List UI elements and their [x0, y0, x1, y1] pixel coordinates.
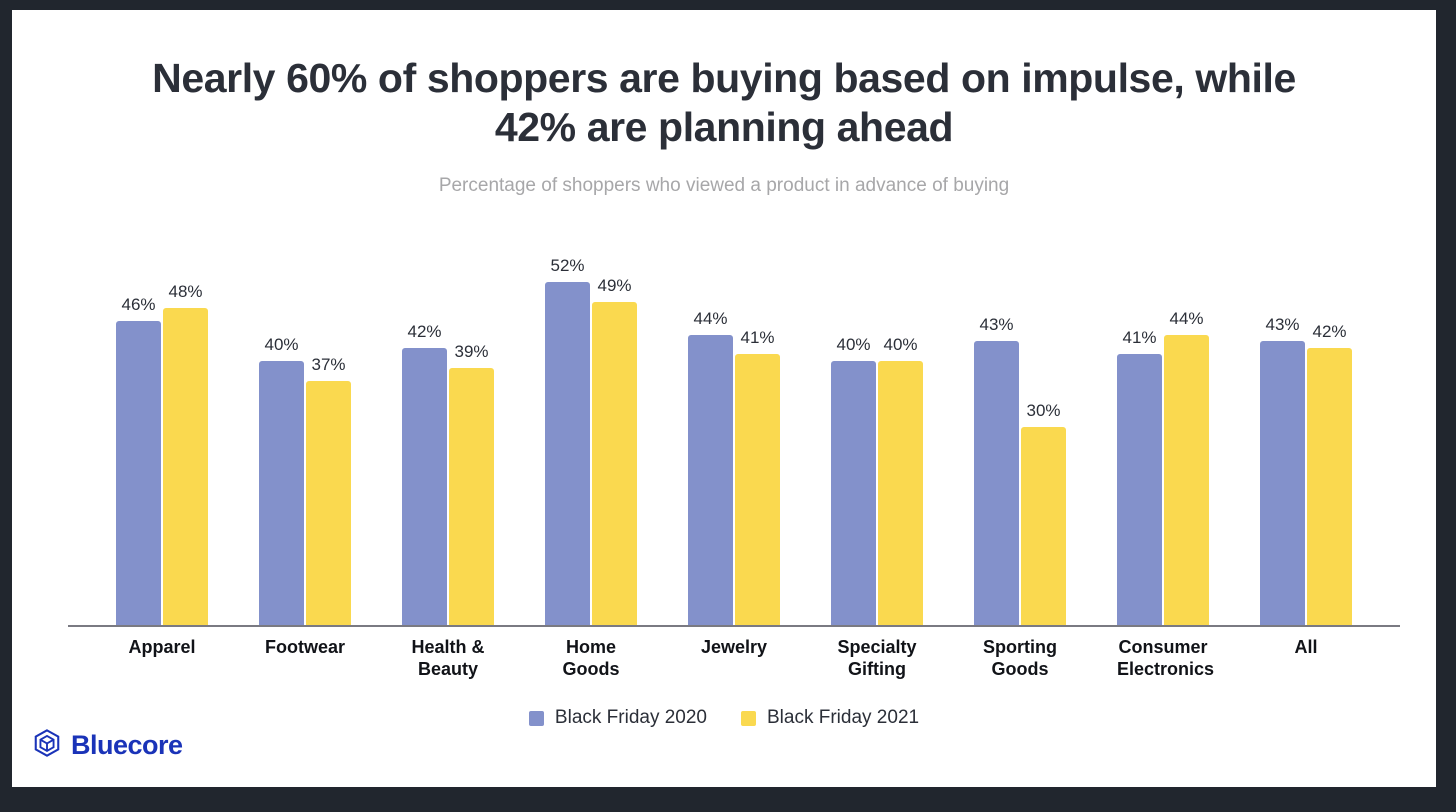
bar-series-2021[interactable] [163, 308, 208, 625]
bar-series-2020[interactable] [688, 335, 733, 625]
page-title: Nearly 60% of shoppers are buying based … [12, 54, 1436, 152]
legend-label: Black Friday 2021 [767, 707, 919, 729]
bar-item[interactable]: 41% [1117, 235, 1162, 625]
bar-value-label: 43% [979, 315, 1013, 335]
bar-group: 40%37% [259, 235, 351, 625]
x-axis-label-line: Jewelry [688, 636, 780, 658]
bar-series-2021[interactable] [449, 368, 494, 625]
bar-item[interactable]: 44% [688, 235, 733, 625]
x-axis-label-line: Goods [974, 658, 1066, 680]
bar-series-2021[interactable] [1307, 348, 1352, 625]
bar-series-2020[interactable] [1260, 341, 1305, 625]
slide-canvas: Nearly 60% of shoppers are buying based … [12, 10, 1436, 787]
x-axis-label-5: SpecialtyGifting [831, 636, 923, 680]
bar-value-label: 44% [693, 309, 727, 329]
x-axis-label-line: Consumer [1117, 636, 1209, 658]
x-axis-label-line: Beauty [402, 658, 494, 680]
bluecore-cube-icon [32, 728, 62, 763]
bar-item[interactable]: 37% [306, 235, 351, 625]
chart-header: Nearly 60% of shoppers are buying based … [12, 10, 1436, 198]
bar-item[interactable]: 40% [259, 235, 304, 625]
bar-series-2021[interactable] [1164, 335, 1209, 625]
bar-value-label: 48% [168, 282, 202, 302]
bar-group: 43%42% [1260, 235, 1352, 625]
x-axis-label-line: Specialty [831, 636, 923, 658]
chart-legend: Black Friday 2020Black Friday 2021 [12, 707, 1436, 729]
bar-value-label: 43% [1265, 315, 1299, 335]
bar-value-label: 44% [1169, 309, 1203, 329]
bar-value-label: 41% [1122, 328, 1156, 348]
bar-value-label: 39% [454, 342, 488, 362]
bar-series-2020[interactable] [545, 282, 590, 625]
bar-item[interactable]: 52% [545, 235, 590, 625]
x-axis-label-1: Footwear [259, 636, 351, 680]
x-axis-label-line: All [1260, 636, 1352, 658]
bar-value-label: 41% [740, 328, 774, 348]
bar-item[interactable]: 41% [735, 235, 780, 625]
bar-item[interactable]: 48% [163, 235, 208, 625]
chart-plot-area: 46%48%40%37%42%39%52%49%44%41%40%40%43%3… [68, 235, 1400, 627]
x-axis-label-line: Apparel [116, 636, 208, 658]
bar-series-2021[interactable] [735, 354, 780, 625]
bar-group: 40%40% [831, 235, 923, 625]
bar-item[interactable]: 49% [592, 235, 637, 625]
bar-group: 42%39% [402, 235, 494, 625]
bar-groups: 46%48%40%37%42%39%52%49%44%41%40%40%43%3… [68, 235, 1400, 627]
x-axis-label-6: SportingGoods [974, 636, 1066, 680]
bar-item[interactable]: 30% [1021, 235, 1066, 625]
bar-item[interactable]: 40% [831, 235, 876, 625]
bar-value-label: 52% [550, 256, 584, 276]
bar-item[interactable]: 43% [1260, 235, 1305, 625]
bar-group: 41%44% [1117, 235, 1209, 625]
bar-item[interactable]: 44% [1164, 235, 1209, 625]
bluecore-logo: Bluecore [32, 728, 183, 763]
bar-value-label: 40% [883, 335, 917, 355]
x-axis-label-4: Jewelry [688, 636, 780, 680]
bar-series-2020[interactable] [974, 341, 1019, 625]
x-axis-label-line: Home Goods [545, 636, 637, 680]
bar-series-2021[interactable] [878, 361, 923, 625]
bar-value-label: 40% [264, 335, 298, 355]
bar-series-2021[interactable] [306, 381, 351, 625]
x-axis-label-line: Gifting [831, 658, 923, 680]
x-axis-label-7: ConsumerElectronics [1117, 636, 1209, 680]
bluecore-wordmark: Bluecore [71, 730, 183, 761]
legend-item-1[interactable]: Black Friday 2021 [741, 707, 919, 729]
legend-item-0[interactable]: Black Friday 2020 [529, 707, 707, 729]
chart-subtitle: Percentage of shoppers who viewed a prod… [12, 174, 1436, 198]
x-axis-line [68, 625, 1400, 627]
x-axis-label-0: Apparel [116, 636, 208, 680]
legend-swatch-icon [741, 711, 756, 726]
legend-swatch-icon [529, 711, 544, 726]
bar-series-2021[interactable] [592, 302, 637, 625]
x-axis-label-8: All [1260, 636, 1352, 680]
bar-item[interactable]: 42% [402, 235, 447, 625]
bar-value-label: 42% [1312, 322, 1346, 342]
bar-item[interactable]: 46% [116, 235, 161, 625]
bar-group: 46%48% [116, 235, 208, 625]
bar-group: 43%30% [974, 235, 1066, 625]
bar-item[interactable]: 42% [1307, 235, 1352, 625]
x-axis-label-line: Sporting [974, 636, 1066, 658]
bar-value-label: 30% [1026, 401, 1060, 421]
bar-item[interactable]: 39% [449, 235, 494, 625]
bar-group: 52%49% [545, 235, 637, 625]
bar-series-2021[interactable] [1021, 427, 1066, 625]
bar-series-2020[interactable] [116, 321, 161, 625]
bar-item[interactable]: 43% [974, 235, 1019, 625]
bar-series-2020[interactable] [402, 348, 447, 625]
x-axis-category-labels: ApparelFootwearHealth &BeautyHome GoodsJ… [68, 636, 1400, 680]
bar-group: 44%41% [688, 235, 780, 625]
bar-value-label: 40% [836, 335, 870, 355]
x-axis-label-line: Health & [402, 636, 494, 658]
bar-value-label: 37% [311, 355, 345, 375]
legend-label: Black Friday 2020 [555, 707, 707, 729]
x-axis-label-line: Footwear [259, 636, 351, 658]
bar-item[interactable]: 40% [878, 235, 923, 625]
x-axis-label-line: Electronics [1117, 658, 1209, 680]
bar-value-label: 42% [407, 322, 441, 342]
bar-value-label: 46% [121, 295, 155, 315]
bar-value-label: 49% [597, 276, 631, 296]
x-axis-label-2: Health &Beauty [402, 636, 494, 680]
bar-series-2020[interactable] [1117, 354, 1162, 625]
x-axis-label-3: Home Goods [545, 636, 637, 680]
bar-series-2020[interactable] [831, 361, 876, 625]
bar-series-2020[interactable] [259, 361, 304, 625]
